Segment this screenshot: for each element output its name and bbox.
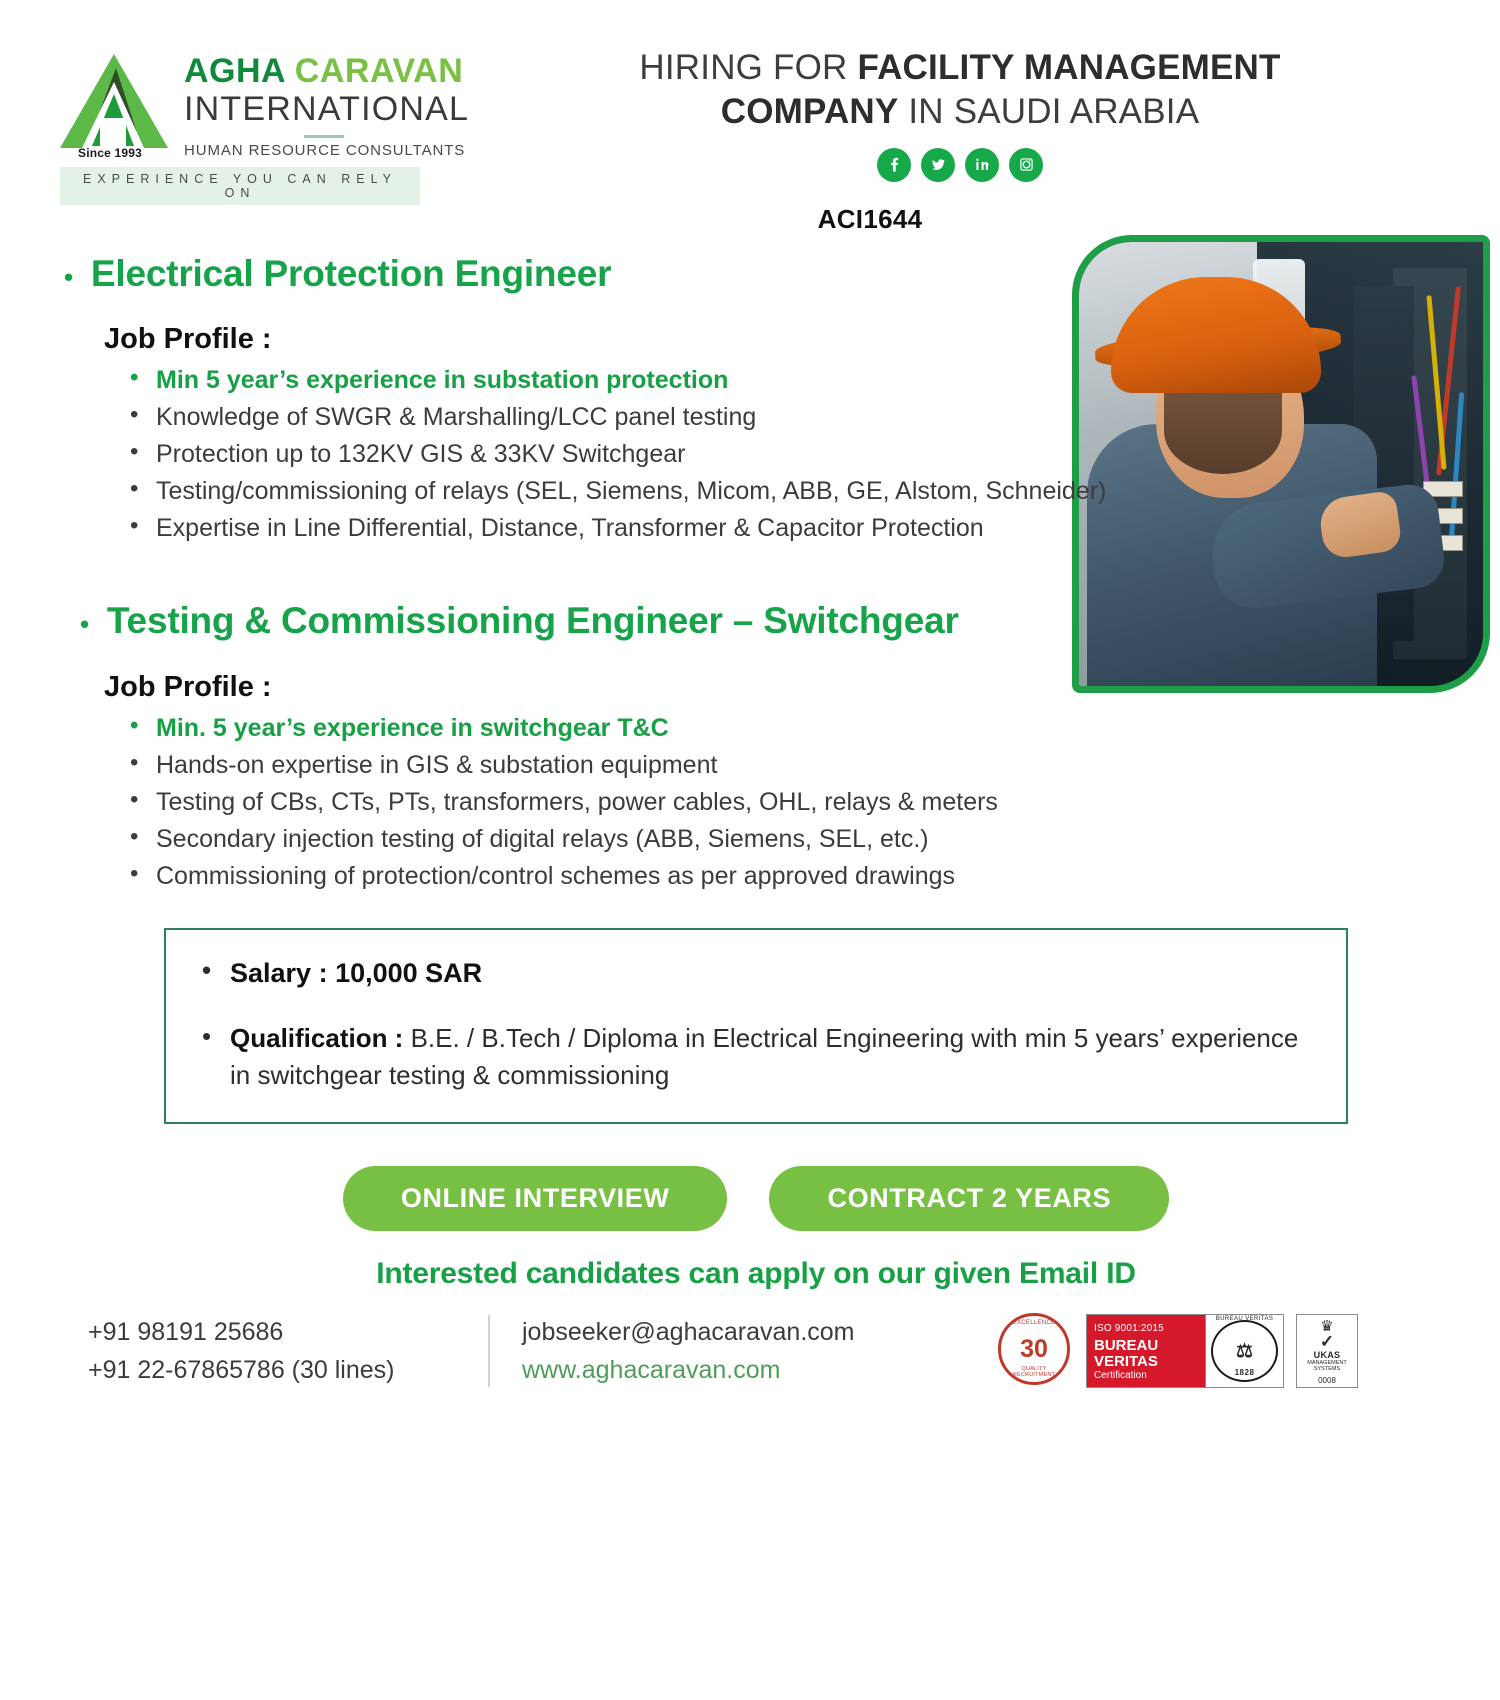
job-bullets-2: Min. 5 year’s experience in switchgear T… [130,710,1460,894]
cta-row: ONLINE INTERVIEW CONTRACT 2 YEARS [52,1166,1460,1231]
iso-body-name: BUREAU VERITAS [1094,1338,1198,1370]
bureau-veritas-badge-icon: ISO 9001:2015 BUREAU VERITAS Certificati… [1086,1314,1284,1388]
job-section-1: • Electrical Protection Engineer Job Pro… [52,253,1460,547]
list-item: Knowledge of SWGR & Marshalling/LCC pane… [130,399,1460,435]
salary-value: 10,000 SAR [335,958,482,988]
agha-caravan-logo-icon: Since 1993 [60,48,168,156]
badge-30-top-text: EXCELLENCE [1001,1320,1067,1326]
linkedin-icon[interactable] [965,148,999,182]
hiring-suffix: IN SAUDI ARABIA [898,92,1199,131]
ukas-check-icon: ✓ [1297,1334,1357,1349]
job-bullets-1: Min 5 year’s experience in substation pr… [130,362,1460,546]
list-item: Min. 5 year’s experience in switchgear T… [130,710,1460,746]
job-content: • Electrical Protection Engineer Job Pro… [0,235,1500,1291]
brand-tagline: EXPERIENCE YOU CAN RELY ON [60,167,420,205]
hiring-bold-2: COMPANY [721,92,899,131]
hiring-bold-1: FACILITY MANAGEMENT [857,48,1280,87]
footer-divider [488,1315,490,1387]
job-section-2: • Testing & Commissioning Engineer – Swi… [52,600,1460,894]
offer-details-box: Salary : 10,000 SAR Qualification : B.E.… [164,928,1348,1124]
bv-seal-year: 1828 [1235,1368,1255,1377]
brand-name-line1: AGHA CARAVAN [184,54,469,90]
list-item: Testing of CBs, CTs, PTs, transformers, … [130,784,1460,820]
certification-badges: EXCELLENCE 30 QUALITY RECRUITMENT ISO 90… [998,1313,1358,1389]
job-title-1: • Electrical Protection Engineer [52,253,1460,296]
footer-phones: +91 98191 25686 +91 22-67865786 (30 line… [88,1313,488,1391]
ukas-name: UKAS [1297,1350,1357,1360]
ukas-subtitle: MANAGEMENT SYSTEMS [1297,1360,1357,1373]
qualification-label: Qualification : [230,1023,411,1053]
list-item: Hands-on expertise in GIS & substation e… [130,747,1460,783]
brand-agha: AGHA [184,52,295,90]
ukas-badge-icon: ♛ ✓ UKAS MANAGEMENT SYSTEMS 0008 [1296,1314,1358,1388]
twitter-icon[interactable] [921,148,955,182]
website-url[interactable]: www.aghacaravan.com [522,1351,992,1390]
since-label: Since 1993 [78,146,142,160]
phone-primary[interactable]: +91 98191 25686 [88,1313,488,1352]
job-profile-label-1: Job Profile : [104,323,1460,356]
company-logo-block: Since 1993 AGHA CARAVAN INTERNATIONAL HU… [60,30,460,235]
iso-standard: ISO 9001:2015 [1094,1323,1198,1334]
hiring-prefix: HIRING FOR [639,48,857,87]
job-profile-label-2: Job Profile : [104,671,1460,704]
job-reference-number: ACI1644 [460,204,1460,235]
badge-30-number: 30 [1020,1335,1048,1364]
apply-instruction: Interested candidates can apply on our g… [52,1257,1460,1291]
job-title-2-text: Testing & Commissioning Engineer – Switc… [107,600,959,643]
list-item: Commissioning of protection/control sche… [130,858,1460,894]
phone-secondary[interactable]: +91 22-67865786 (30 lines) [88,1351,488,1390]
job-title-2: • Testing & Commissioning Engineer – Swi… [52,600,1460,643]
list-item: Testing/commissioning of relays (SEL, Si… [130,473,1460,509]
brand-name-line2: INTERNATIONAL [184,90,469,129]
instagram-icon[interactable] [1009,148,1043,182]
badge-30-bottom-text: QUALITY RECRUITMENT [1001,1366,1067,1378]
online-interview-button[interactable]: ONLINE INTERVIEW [343,1166,728,1231]
30-years-badge-icon: EXCELLENCE 30 QUALITY RECRUITMENT [998,1313,1074,1389]
job-bullet-icon: • [80,611,89,637]
qualification-row: Qualification : B.E. / B.Tech / Diploma … [200,1020,1312,1094]
list-item: Min 5 year’s experience in substation pr… [130,362,1460,398]
brand-caravan: CARAVAN [295,52,463,90]
list-item: Protection up to 132KV GIS & 33KV Switch… [130,436,1460,472]
salary-label: Salary : [230,958,335,988]
job-title-1-text: Electrical Protection Engineer [91,253,611,296]
iso-certification-word: Certification [1094,1370,1198,1381]
email-address[interactable]: jobseeker@aghacaravan.com [522,1313,992,1352]
ukas-number: 0008 [1297,1376,1357,1385]
footer-links: jobseeker@aghacaravan.com www.aghacarava… [522,1313,992,1391]
social-links [460,148,1460,182]
hiring-headline: HIRING FOR FACILITY MANAGEMENT COMPANY I… [460,46,1460,134]
bv-seal-mark: ⚖ [1236,1340,1253,1363]
page-footer: +91 98191 25686 +91 22-67865786 (30 line… [0,1291,1500,1391]
list-item: Secondary injection testing of digital r… [130,821,1460,857]
brand-subtitle: HUMAN RESOURCE CONSULTANTS [184,142,469,159]
job-bullet-icon: • [64,264,73,290]
facebook-icon[interactable] [877,148,911,182]
list-item: Expertise in Line Differential, Distance… [130,510,1460,546]
brand-divider [304,135,344,138]
contract-duration-button[interactable]: CONTRACT 2 YEARS [769,1166,1169,1231]
header-headline-block: HIRING FOR FACILITY MANAGEMENT COMPANY I… [460,30,1460,235]
salary-row: Salary : 10,000 SAR [200,954,1312,992]
page-header: Since 1993 AGHA CARAVAN INTERNATIONAL HU… [0,0,1500,235]
